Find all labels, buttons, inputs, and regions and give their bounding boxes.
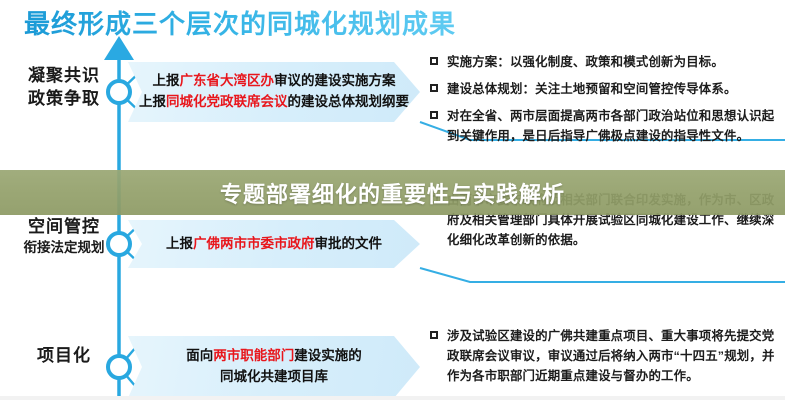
plain-text: 上报 [139,94,166,109]
stage-label-3-line1: 项目化 [8,345,120,368]
stage-label-3: 项目化 [8,345,120,368]
page-bottom-edge [0,396,785,400]
bullet-text: 对在全省、两市层面提高两市各部门政治站位和思想认识起到关键作用，是日后指导广佛极… [447,106,778,146]
bullet-text: 涉及试验区建设的广佛共建重点项目、重大事项将先提交党政联席会议审议，审议通过后将… [447,326,778,386]
bullet-item: 对在全省、两市层面提高两市各部门政治站位和思想认识起到关键作用，是日后指导广佛极… [430,106,778,146]
overlay-banner-text: 专题部署细化的重要性与实践解析 [0,170,785,215]
plain-text: 审议的建设实施方案 [274,73,396,88]
highlight-text: 两市职能部门 [213,348,294,363]
stage-label-2-line2: 衔接法定规划 [8,239,120,257]
bullet-text: 建设总体规划：关注土地预留和空间管控传导体系。 [447,79,737,99]
highlight-text: 广佛两市市委市政府 [193,236,315,251]
chevron-box-2: 上报广佛两市市委市政府审批的文件 [128,220,420,268]
bullet-group-1: 实施方案：以强化制度、政策和模式创新为目标。建设总体规划：关注土地预留和空间管控… [430,52,778,146]
stage-label-2: 空间管控 衔接法定规划 [8,216,120,257]
plain-text: 上报 [166,236,193,251]
square-bullet-icon [430,331,438,339]
plain-text: 审批的文件 [315,236,383,251]
stage-label-1-line2: 政策争取 [8,88,120,111]
stage-label-2-line1: 空间管控 [8,216,120,239]
bullet-item: 实施方案：以强化制度、政策和模式创新为目标。 [430,52,778,72]
chevron-line: 上报广东省大湾区办审议的建设实施方案 [153,71,396,92]
bullet-item: 建设总体规划：关注土地预留和空间管控传导体系。 [430,79,778,99]
stage-label-1-line1: 凝聚共识 [8,65,120,88]
square-bullet-icon [430,111,438,119]
square-bullet-icon [430,57,438,65]
bullet-text: 实施方案：以强化制度、政策和模式创新为目标。 [447,52,724,72]
highlight-text: 同城化党政联席会议 [166,94,288,109]
bullet-item: 涉及试验区建设的广佛共建重点项目、重大事项将先提交党政联席会议审议，审议通过后将… [430,326,778,386]
chevron-line: 上报同城化党政联席会议的建设总体规划纲要 [139,92,409,113]
plain-text: 面向 [186,348,213,363]
chevron-line: 面向两市职能部门建设实施的 [186,346,362,367]
bullet-group-3: 涉及试验区建设的广佛共建重点项目、重大事项将先提交党政联席会议审议，审议通过后将… [430,326,778,386]
chevron-line: 同城化共建项目库 [220,367,328,388]
plain-text: 建设实施的 [294,348,362,363]
stage-label-1: 凝聚共识 政策争取 [8,65,120,111]
plain-text: 同城化共建项目库 [220,369,328,384]
slide-canvas: 最终形成三个层次的同城化规划成果 凝聚共识 政策争取 [0,0,785,400]
plain-text: 的建设总体规划纲要 [288,94,410,109]
plain-text: 上报 [153,73,180,88]
highlight-text: 广东省大湾区办 [180,73,275,88]
chevron-box-3: 面向两市职能部门建设实施的同城化共建项目库 [128,336,420,398]
chevron-box-1: 上报广东省大湾区办审议的建设实施方案上报同城化党政联席会议的建设总体规划纲要 [128,62,420,122]
square-bullet-icon [430,84,438,92]
page-title: 最终形成三个层次的同城化规划成果 [24,4,456,41]
chevron-line: 上报广佛两市市委市政府审批的文件 [166,234,382,255]
